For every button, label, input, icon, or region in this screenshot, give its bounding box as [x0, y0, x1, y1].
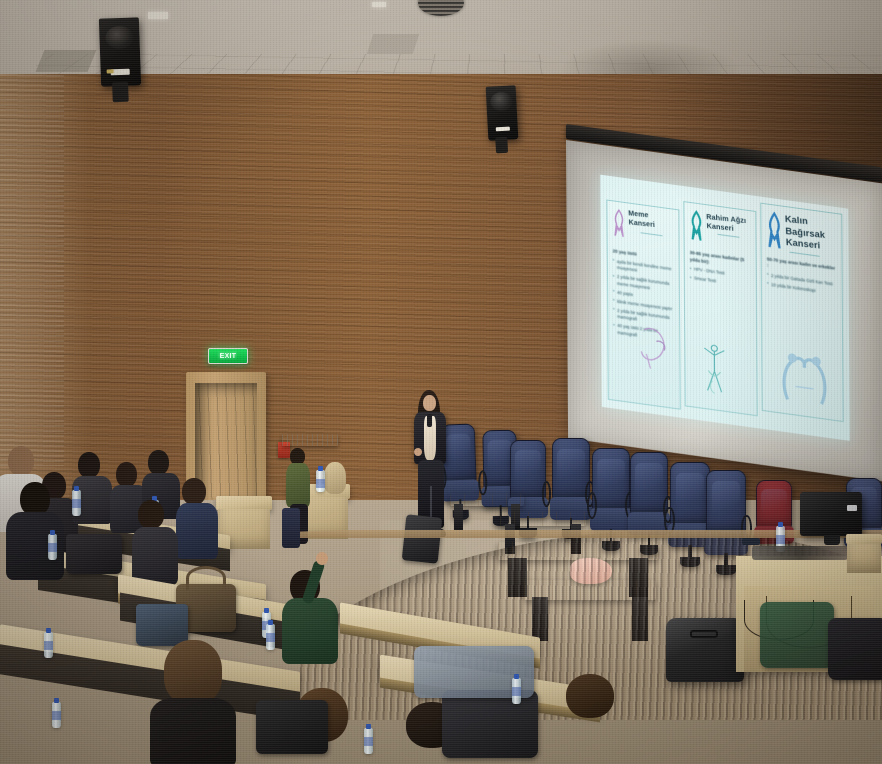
- slide-panel-kalin-bagirsak-kanseri: Kalın Bağırsak Kanseri 50-70 yaş arası k…: [761, 203, 844, 422]
- ceiling-stained-tile: [36, 50, 97, 72]
- breast-exam-illustration: [613, 338, 675, 402]
- emergency-exit-sign: EXIT: [208, 348, 248, 364]
- water-bottle: [52, 702, 61, 728]
- chair-back: [670, 462, 710, 528]
- black-handbag: [256, 700, 328, 754]
- person-torso: [176, 503, 218, 559]
- audience-member: [150, 640, 236, 764]
- handbag-strap-icon: [186, 566, 226, 590]
- desk-top: [216, 496, 272, 510]
- speaker-cone: [105, 26, 135, 50]
- wall-radiator: [282, 434, 338, 446]
- ceiling-fixture: [148, 12, 168, 19]
- panel-title: Kalın Bağırsak Kanseri: [785, 214, 837, 254]
- presenter-head: [423, 395, 436, 411]
- barrier-cap-rail: [300, 530, 882, 538]
- small-dog-or-bag-on-desk: [324, 462, 346, 494]
- chair-back: [630, 452, 668, 516]
- raised-hand: [316, 552, 328, 565]
- water-bottle: [48, 534, 57, 560]
- water-bottle: [512, 678, 521, 704]
- ceiling-stained-tile: [367, 34, 419, 54]
- speaker-port: [496, 126, 510, 132]
- person-head: [182, 478, 206, 505]
- audience-member: [132, 500, 176, 582]
- desk-chair-side[interactable]: [282, 508, 300, 548]
- water-bottle: [266, 624, 275, 650]
- presenter-hand: [414, 448, 422, 456]
- black-equipment-case: [666, 618, 744, 682]
- backpack: [442, 690, 538, 758]
- lecture-hall-photo: EXIT Meme Kanseri: [0, 0, 882, 764]
- control-desk-monitor[interactable]: [800, 492, 862, 536]
- audience-member-raising-hand: [282, 566, 338, 662]
- monitor-brand-label: [847, 505, 857, 511]
- backpack: [66, 534, 122, 574]
- air-vent-icon: [418, 0, 464, 16]
- person-head: [138, 500, 164, 529]
- screen-surface: Meme Kanseri 20 yaş üstü ayda bir kendi …: [566, 140, 882, 482]
- speaker-port: [111, 69, 130, 76]
- bench-leg: [454, 504, 463, 530]
- projected-slide: Meme Kanseri 20 yaş üstü ayda bir kendi …: [600, 175, 850, 441]
- green-jacket: [760, 602, 834, 668]
- blue-awareness-ribbon: [767, 211, 783, 251]
- speaker-led-icon: [107, 69, 114, 73]
- pale-wood-wall-column: [0, 74, 64, 466]
- person-torso: [282, 598, 338, 664]
- speaker-mount-bracket: [112, 82, 129, 103]
- wall-speaker-left: [99, 17, 141, 86]
- dark-coat: [828, 618, 882, 680]
- exit-sign-label: EXIT: [220, 353, 237, 360]
- person-head: [164, 640, 222, 704]
- title-divider: [790, 251, 820, 256]
- water-bottle: [72, 490, 81, 516]
- chair-back: [510, 440, 546, 501]
- person-head: [566, 674, 614, 718]
- chair-back: [552, 438, 590, 501]
- water-bottle: [316, 470, 325, 492]
- slide-panel-rahim-agzi-kanseri: Rahim Ağzı Kanseri 30-65 yaş arası kadın…: [683, 201, 758, 416]
- desk-clutter-cables: [752, 546, 848, 560]
- panel-header: Meme Kanseri: [612, 207, 673, 249]
- desk-front-panel: [847, 544, 880, 574]
- audience-member: [176, 478, 216, 556]
- speaker-mount-bracket: [495, 137, 508, 154]
- title-divider: [640, 232, 662, 236]
- person-torso: [132, 527, 178, 585]
- water-bottle: [44, 632, 53, 658]
- speaker-cone: [490, 92, 513, 111]
- person-head: [78, 452, 100, 478]
- title-divider: [718, 234, 740, 238]
- projection-screen: Meme Kanseri 20 yaş üstü ayda bir kendi …: [566, 140, 882, 482]
- person-torso: [286, 463, 310, 507]
- desk-remote-control[interactable]: [742, 538, 760, 545]
- water-bottle: [364, 728, 373, 754]
- wall-speaker-right: [486, 85, 519, 140]
- slide-panel-meme-kanseri: Meme Kanseri 20 yaş üstü ayda bir kendi …: [606, 200, 681, 410]
- person-torso: [150, 698, 236, 764]
- chair-back: [756, 480, 792, 530]
- chair-back: [706, 470, 746, 536]
- ceiling-fixture: [372, 2, 386, 7]
- case-handle-icon: [690, 630, 718, 638]
- person-head: [116, 462, 137, 487]
- microphone-icon: [427, 414, 432, 427]
- panel-header: Kalın Bağırsak Kanseri: [767, 211, 837, 259]
- teal-awareness-ribbon: [690, 209, 704, 243]
- panel-title: Meme Kanseri: [628, 210, 674, 232]
- side-table-right: [846, 534, 882, 574]
- female-figure-illustration: [690, 284, 752, 408]
- person-head: [148, 450, 169, 475]
- panel-header: Rahim Ağzı Kanseri: [690, 209, 751, 251]
- person-head: [20, 482, 50, 516]
- chair-back: [592, 448, 630, 512]
- chair-armrest: [587, 492, 597, 519]
- person-head: [8, 446, 34, 476]
- audience-member: [556, 674, 630, 764]
- heart-couple-illustration: [767, 290, 837, 414]
- pink-awareness-ribbon: [612, 207, 625, 239]
- panel-title: Rahim Ağzı Kanseri: [706, 212, 751, 235]
